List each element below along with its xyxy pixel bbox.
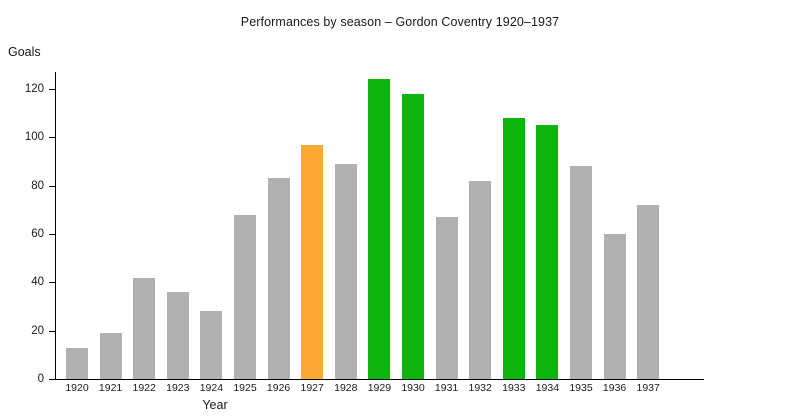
bar[interactable] [133,278,155,380]
x-tick-label: 1922 [126,382,162,394]
x-tick-label: 1936 [597,382,633,394]
x-tick-label: 1932 [462,382,498,394]
y-tick-mark [49,379,55,380]
bar[interactable] [436,217,458,379]
bar[interactable] [503,118,525,379]
bar[interactable] [234,215,256,379]
bar[interactable] [200,311,222,379]
x-tick-label: 1928 [328,382,364,394]
bar[interactable] [335,164,357,379]
x-tick-label: 1926 [261,382,297,394]
x-tick-label: 1937 [630,382,666,394]
bar[interactable] [570,166,592,379]
x-tick-label: 1930 [395,382,431,394]
x-axis-title: Year [0,398,430,412]
x-tick-label: 1920 [59,382,95,394]
x-tick-label: 1923 [160,382,196,394]
bar[interactable] [167,292,189,379]
bar[interactable] [536,125,558,379]
bar[interactable] [268,178,290,379]
bar[interactable] [368,79,390,379]
x-tick-label: 1933 [496,382,532,394]
x-tick-label: 1929 [361,382,397,394]
x-tick-label: 1924 [193,382,229,394]
x-tick-label: 1935 [563,382,599,394]
bar[interactable] [637,205,659,379]
x-tick-label: 1925 [227,382,263,394]
bar[interactable] [66,348,88,379]
x-tick-label: 1927 [294,382,330,394]
bar[interactable] [604,234,626,379]
x-tick-label: 1921 [93,382,129,394]
bar[interactable] [100,333,122,379]
bars-layer [0,0,800,379]
x-axis-line [55,379,704,380]
x-tick-label: 1934 [529,382,565,394]
x-tick-label: 1931 [429,382,465,394]
bar[interactable] [301,145,323,379]
bar[interactable] [469,181,491,379]
bar-chart: Performances by season – Gordon Coventry… [0,0,800,420]
bar[interactable] [402,94,424,379]
